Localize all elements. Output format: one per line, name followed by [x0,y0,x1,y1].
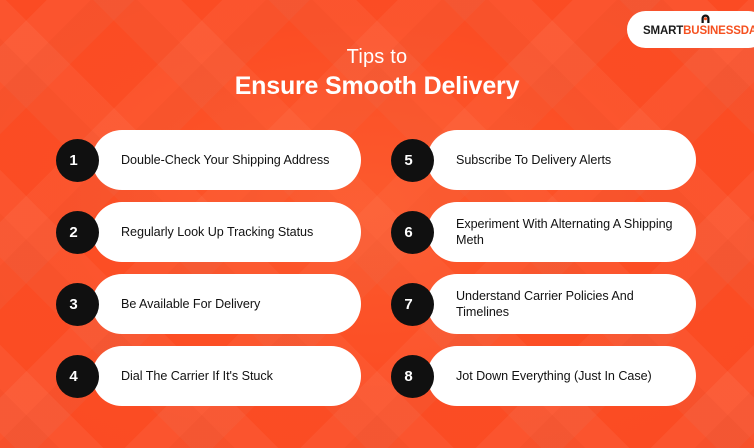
tip-number-badge: 7 [391,283,434,326]
list-item[interactable]: Regularly Look Up Tracking Status 2 [56,202,361,262]
tip-label: Be Available For Delivery [92,296,278,313]
brand-logo[interactable]: SMARTBUSINESSDAILY [627,11,754,48]
tip-number-badge: 8 [391,355,434,398]
tip-label: Dial The Carrier If It's Stuck [92,368,291,385]
tip-card[interactable]: Subscribe To Delivery Alerts [427,130,696,190]
list-item[interactable]: Be Available For Delivery 3 [56,274,361,334]
tip-label: Jot Down Everything (Just In Case) [427,368,670,385]
list-item[interactable]: Jot Down Everything (Just In Case) 8 [391,346,696,406]
tip-label: Double-Check Your Shipping Address [92,152,347,169]
tip-number-badge: 2 [56,211,99,254]
list-item[interactable]: Double-Check Your Shipping Address 1 [56,130,361,190]
tip-label: Understand Carrier Policies And Timeline… [427,288,696,321]
brand-logo-wordmark: SMARTBUSINESSDAILY [643,22,754,38]
list-item[interactable]: Experiment With Alternating A Shipping M… [391,202,696,262]
brand-logo-businessdaily: BUSINESSDAILY [683,25,754,37]
tip-number-badge: 1 [56,139,99,182]
tip-number-badge: 3 [56,283,99,326]
tip-number-badge: 6 [391,211,434,254]
tip-card[interactable]: Jot Down Everything (Just In Case) [427,346,696,406]
tip-label: Regularly Look Up Tracking Status [92,224,331,241]
tip-card[interactable]: Understand Carrier Policies And Timeline… [427,274,696,334]
tip-card[interactable]: Double-Check Your Shipping Address [92,130,361,190]
infographic-poster: SMARTBUSINESSDAILY Tips to Ensure Smooth… [0,0,754,448]
tips-column-right: Subscribe To Delivery Alerts 5 Experimen… [391,130,696,406]
list-item[interactable]: Subscribe To Delivery Alerts 5 [391,130,696,190]
tip-card[interactable]: Dial The Carrier If It's Stuck [92,346,361,406]
tip-label: Subscribe To Delivery Alerts [427,152,629,169]
magnifier-dot-icon [700,13,711,24]
page-title-block: Tips to Ensure Smooth Delivery [0,44,754,101]
page-title: Ensure Smooth Delivery [0,71,754,101]
brand-logo-smart: SMART [643,25,683,37]
page-eyebrow: Tips to [0,44,754,70]
tip-card[interactable]: Regularly Look Up Tracking Status [92,202,361,262]
tip-card[interactable]: Be Available For Delivery [92,274,361,334]
list-item[interactable]: Understand Carrier Policies And Timeline… [391,274,696,334]
tip-card[interactable]: Experiment With Alternating A Shipping M… [427,202,696,262]
tip-number-badge: 4 [56,355,99,398]
tip-number-badge: 5 [391,139,434,182]
tips-column-left: Double-Check Your Shipping Address 1 Reg… [56,130,361,406]
list-item[interactable]: Dial The Carrier If It's Stuck 4 [56,346,361,406]
tip-label: Experiment With Alternating A Shipping M… [427,216,696,249]
